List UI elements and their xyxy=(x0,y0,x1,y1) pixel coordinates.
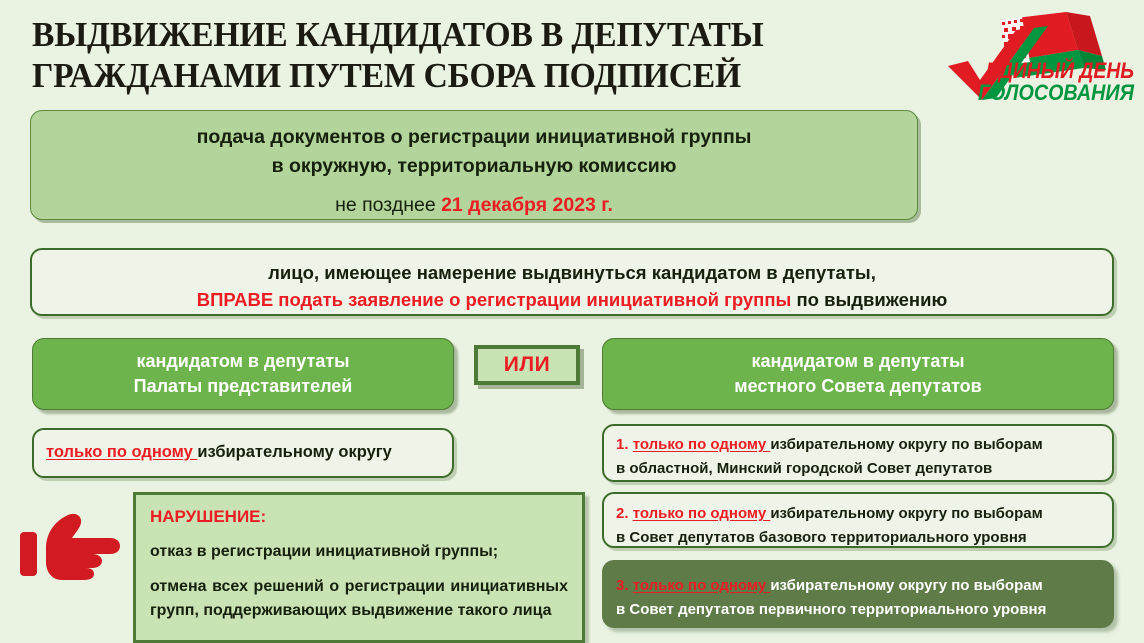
edinyi-den-golosovaniya-logo: ЕДИНЫЙ ДЕНЬ ГОЛОСОВАНИЯ xyxy=(938,6,1136,104)
list-item-base-level-council: 2. только по одному избирательному округ… xyxy=(602,492,1114,548)
list-item-regional-council: 1. только по одному избирательному округ… xyxy=(602,424,1114,482)
item2-tail: избирательному округу по выборам xyxy=(770,505,1042,522)
item3-tail: избирательному округу по выборам xyxy=(770,577,1042,594)
submission-line-2: в окружную, территориальную комиссию xyxy=(31,152,917,181)
item2-number: 2. xyxy=(616,505,629,522)
submission-line-1: подача документов о регистрации инициати… xyxy=(31,123,917,152)
item3-line-2: в Совет депутатов первичного территориал… xyxy=(616,598,1102,622)
option-house-of-representatives[interactable]: кандидатом в депутаты Палаты представите… xyxy=(32,338,454,410)
item3-number: 3. xyxy=(616,577,629,594)
item3-highlight: только по одному xyxy=(633,577,771,594)
option-right-line-1: кандидатом в депутаты xyxy=(734,349,981,374)
deadline-date: 21 декабря 2023 г. xyxy=(441,194,613,216)
item1-highlight: только по одному xyxy=(633,436,771,453)
violation-heading: НАРУШЕНИЕ: xyxy=(150,507,568,527)
statement-highlight: ВПРАВЕ подать заявление о регистрации ин… xyxy=(197,289,792,310)
item1-tail: избирательному округу по выборам xyxy=(770,436,1042,453)
statement-line-2: ВПРАВЕ подать заявление о регистрации ин… xyxy=(32,286,1112,313)
statement-line-1: лицо, имеющее намерение выдвинуться канд… xyxy=(32,259,1112,286)
or-label: ИЛИ xyxy=(478,349,576,381)
page-title: ВЫДВИЖЕНИЕ КАНДИДАТОВ В ДЕПУТАТЫ ГРАЖДАН… xyxy=(32,14,800,96)
submission-deadline-line: не позднее 21 декабря 2023 г. xyxy=(31,191,917,220)
left-single-district-box: только по одному избирательному округу xyxy=(32,428,454,478)
left-district-tail: избирательному округу xyxy=(197,443,391,461)
item1-line-2: в областной, Минский городской Совет деп… xyxy=(616,457,1100,481)
left-district-highlight: только по одному xyxy=(46,443,197,461)
right-to-apply-box: лицо, имеющее намерение выдвинуться канд… xyxy=(30,248,1114,316)
violation-item-1: отказ в регистрации инициативной группы; xyxy=(150,540,568,564)
option-local-council[interactable]: кандидатом в депутаты местного Совета де… xyxy=(602,338,1114,410)
item2-line-2: в Совет депутатов базового территориальн… xyxy=(616,526,1100,550)
submission-deadline-box: подача документов о регистрации инициати… xyxy=(30,110,918,220)
violation-item-2: отмена всех решений о регистрации инициа… xyxy=(150,575,568,623)
or-separator-box: ИЛИ xyxy=(474,345,580,385)
option-right-line-2: местного Совета депутатов xyxy=(734,374,981,399)
list-item-primary-level-council: 3. только по одному избирательному округ… xyxy=(602,560,1114,628)
item2-highlight: только по одному xyxy=(633,505,771,522)
option-left-line-1: кандидатом в депутаты xyxy=(134,349,353,374)
statement-tail: по выдвижению xyxy=(791,289,947,310)
deadline-prefix: не позднее xyxy=(335,194,441,216)
item1-number: 1. xyxy=(616,436,629,453)
infographic-page: ВЫДВИЖЕНИЕ КАНДИДАТОВ В ДЕПУТАТЫ ГРАЖДАН… xyxy=(0,0,1144,643)
pointing-hand-icon xyxy=(18,508,133,590)
page-title-line-1: ВЫДВИЖЕНИЕ КАНДИДАТОВ В ДЕПУТАТЫ xyxy=(32,14,800,55)
logo-line-2: ГОЛОСОВАНИЯ xyxy=(978,80,1135,104)
option-left-line-2: Палаты представителей xyxy=(134,374,353,399)
page-title-line-2: ГРАЖДАНАМИ ПУТЕМ СБОРА ПОДПИСЕЙ xyxy=(32,55,800,96)
violation-box: НАРУШЕНИЕ: отказ в регистрации инициатив… xyxy=(133,492,585,643)
